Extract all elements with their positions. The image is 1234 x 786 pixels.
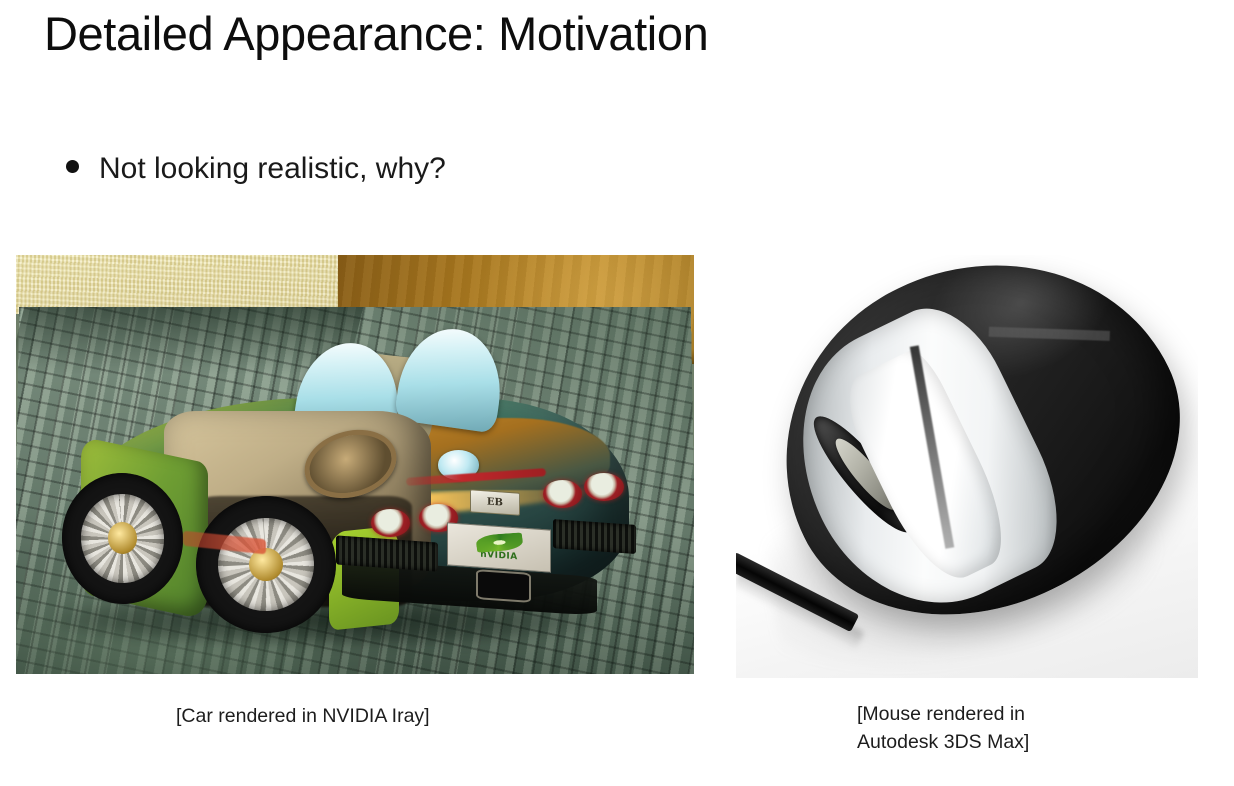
car-figure-caption: [Car rendered in NVIDIA Iray]: [176, 702, 430, 730]
wheel-rim: [216, 516, 316, 614]
bugatti-eb-badge: EB: [470, 490, 520, 517]
taillight: [543, 480, 583, 508]
bullet-dot-icon: [66, 160, 79, 173]
mouse-render-image: [736, 255, 1198, 678]
car-rollbar-right: [393, 323, 508, 434]
car-figure: EB nVIDIA: [16, 255, 694, 674]
mouse-figure-caption: [Mouse rendered in Autodesk 3DS Max]: [857, 700, 1117, 757]
car-object: EB nVIDIA: [36, 326, 673, 653]
mouse-shell-seam: [988, 326, 1109, 340]
wheel-rim: [78, 491, 166, 585]
mouse-figure: [736, 255, 1198, 678]
bullet-list-item: Not looking realistic, why?: [66, 152, 446, 186]
mouse-caption-line-1: [Mouse rendered in: [857, 700, 1117, 728]
bullet-item-label: Not looking realistic, why?: [99, 152, 446, 186]
car-render-image: EB nVIDIA: [16, 255, 694, 674]
page-title: Detailed Appearance: Motivation: [44, 6, 708, 61]
nvidia-logo-icon: [475, 532, 524, 552]
exhaust-outlet: [476, 569, 531, 603]
license-plate: nVIDIA: [447, 522, 551, 572]
mouse-caption-line-2: Autodesk 3DS Max]: [857, 728, 1117, 756]
